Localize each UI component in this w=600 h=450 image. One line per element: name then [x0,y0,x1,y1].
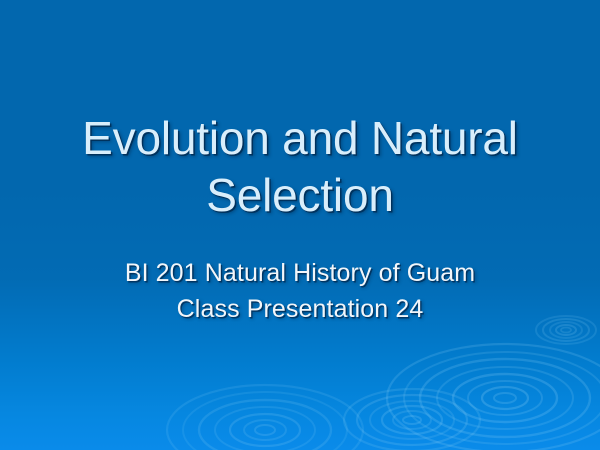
ripple-large-right [387,344,600,450]
ripple-decoration-layer [0,0,600,450]
slide-title-line-1: Evolution and Natural [0,110,600,167]
slide-subtitle-line-1: BI 201 Natural History of Guam [0,255,600,291]
presentation-slide: Evolution and Natural Selection BI 201 N… [0,0,600,450]
slide-title-line-2: Selection [0,167,600,224]
ripple-left-bottom [167,385,363,450]
slide-subtitle-line-2: Class Presentation 24 [0,291,600,327]
slide-subtitle: BI 201 Natural History of Guam Class Pre… [0,255,600,327]
ripple-medium-center [344,389,480,450]
slide-title: Evolution and Natural Selection [0,110,600,224]
